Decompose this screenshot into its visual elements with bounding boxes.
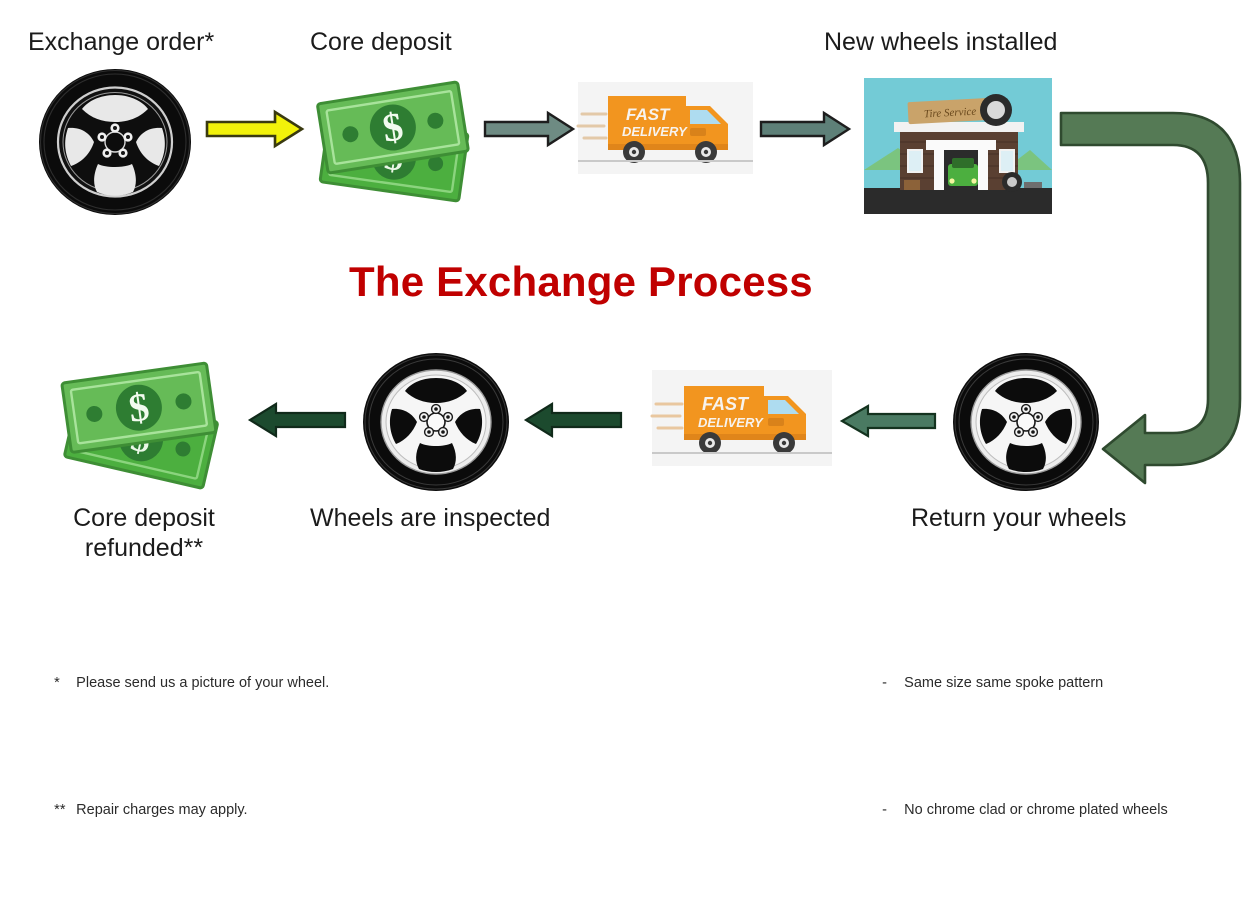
- page-title: The Exchange Process: [349, 258, 813, 306]
- step-label-wheels-installed: New wheels installed: [824, 28, 1057, 58]
- step-label-exchange-order: Exchange order*: [28, 28, 214, 58]
- cash-bills-icon: $ $: [312, 72, 480, 204]
- arrow-1-right: [205, 108, 305, 150]
- arrow-6-left: [248, 402, 346, 438]
- truck-text-delivery: DELIVERY: [622, 124, 688, 139]
- footnote-text: Please send us a picture of your wheel.: [76, 675, 329, 691]
- footnote-marker: **: [54, 798, 76, 823]
- delivery-truck-return-icon: FAST DELIVERY: [652, 370, 832, 466]
- step-label-return-wheels: Return your wheels: [911, 504, 1126, 534]
- arrow-3-right: [760, 110, 852, 148]
- arrow-5-left: [524, 402, 622, 438]
- footnote-marker: *: [54, 671, 76, 696]
- step-label-wheels-inspected: Wheels are inspected: [310, 504, 550, 534]
- exchange-process-diagram: Exchange order* Core deposit New wheels …: [0, 0, 1250, 666]
- arrow-2-right: [484, 110, 576, 148]
- footnote-marker: -: [882, 798, 904, 823]
- alloy-wheel-silver-return-icon: [952, 352, 1100, 492]
- footnote-right-1: -Same size same spoke pattern: [858, 646, 1168, 722]
- footnote-left-1: *Please send us a picture of your wheel.: [30, 646, 329, 722]
- footnote-text: No chrome clad or chrome plated wheels: [904, 802, 1168, 818]
- footnote-left-2: **Repair charges may apply.: [30, 773, 329, 849]
- arrow-4-left: [840, 404, 936, 438]
- svg-text:FAST: FAST: [702, 394, 750, 414]
- cash-bills-refund-icon: $ $: [56, 352, 231, 486]
- step-label-deposit-refunded: Core deposit refunded**: [36, 504, 252, 563]
- alloy-wheel-dark-icon: [38, 68, 193, 216]
- footnotes-left: *Please send us a picture of your wheel.…: [30, 595, 329, 900]
- truck-text-fast: FAST: [626, 105, 671, 124]
- alloy-wheel-silver-inspected-icon: [362, 352, 510, 492]
- footnotes-right: -Same size same spoke pattern -No chrome…: [858, 595, 1168, 900]
- step-label-core-deposit: Core deposit: [310, 28, 452, 58]
- footnote-text: Repair charges may apply.: [76, 802, 247, 818]
- delivery-truck-icon: FAST DELIVERY: [578, 82, 753, 174]
- footnote-right-2: -No chrome clad or chrome plated wheels: [858, 773, 1168, 849]
- footnote-marker: -: [882, 671, 904, 696]
- tire-service-shop-icon: Tire Service: [864, 78, 1052, 214]
- footnote-text: Same size same spoke pattern: [904, 675, 1103, 691]
- svg-text:DELIVERY: DELIVERY: [698, 415, 764, 430]
